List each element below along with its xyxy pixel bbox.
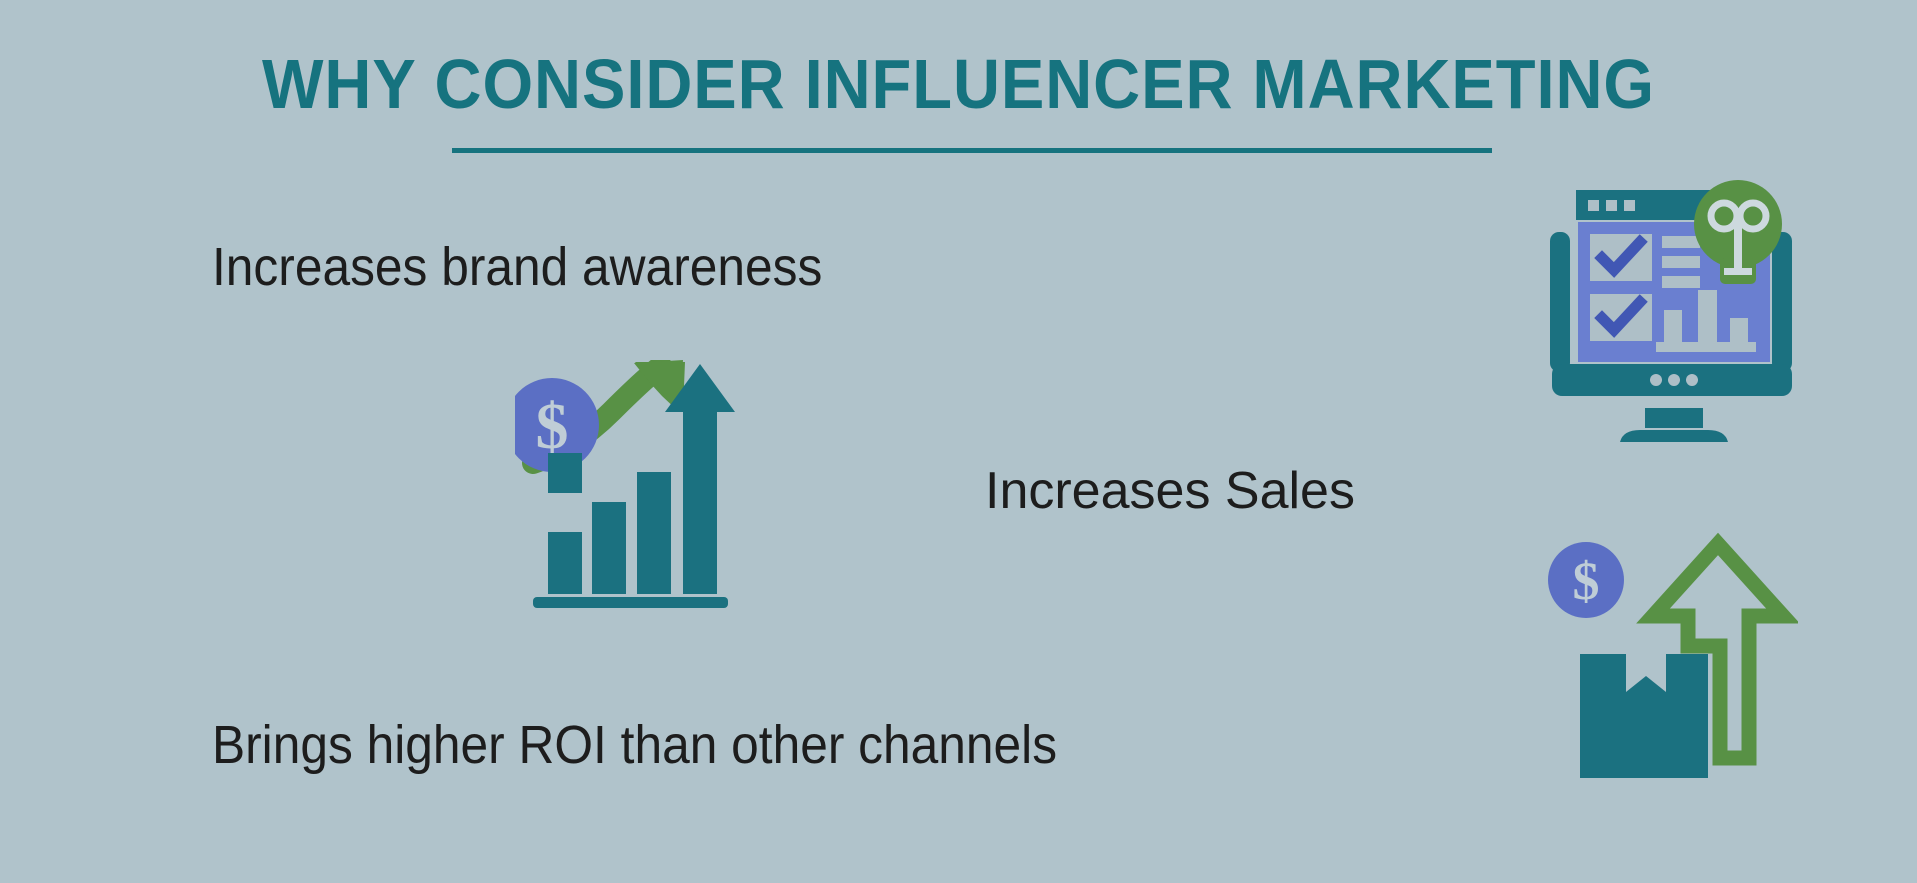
statement-brings-higher-roi: Brings higher ROI than other channels (212, 714, 1057, 776)
monitor-stand (1620, 408, 1728, 442)
title-divider (452, 148, 1492, 153)
monitor-bottom-bezel (1552, 364, 1792, 396)
infographic-canvas: WHY CONSIDER INFLUENCER MARKETING Increa… (0, 0, 1917, 883)
svg-text:$: $ (1573, 551, 1600, 611)
checkbox-card-2 (1590, 294, 1652, 341)
dollar-coin-icon: $ (1548, 542, 1624, 618)
window-dot-1 (1588, 200, 1599, 211)
statement-increases-brand-awareness: Increases brand awareness (212, 236, 822, 298)
checkbox-card-1 (1590, 234, 1652, 281)
teal-up-arrow (665, 364, 735, 594)
window-dot-3 (1624, 200, 1635, 211)
svg-text:$: $ (536, 390, 569, 463)
page-title: WHY CONSIDER INFLUENCER MARKETING (67, 42, 1850, 126)
statement-increases-sales: Increases Sales (985, 461, 1355, 521)
window-dot-2 (1606, 200, 1617, 211)
dashboard-monitor-icon (1548, 172, 1798, 442)
chart-bar-1 (548, 453, 582, 493)
growth-chart-icon: $ (515, 360, 735, 620)
list-lines (1662, 236, 1700, 288)
package-box-icon (1580, 654, 1708, 778)
package-growth-icon: $ (1548, 510, 1798, 800)
chart-baseline (533, 597, 728, 608)
